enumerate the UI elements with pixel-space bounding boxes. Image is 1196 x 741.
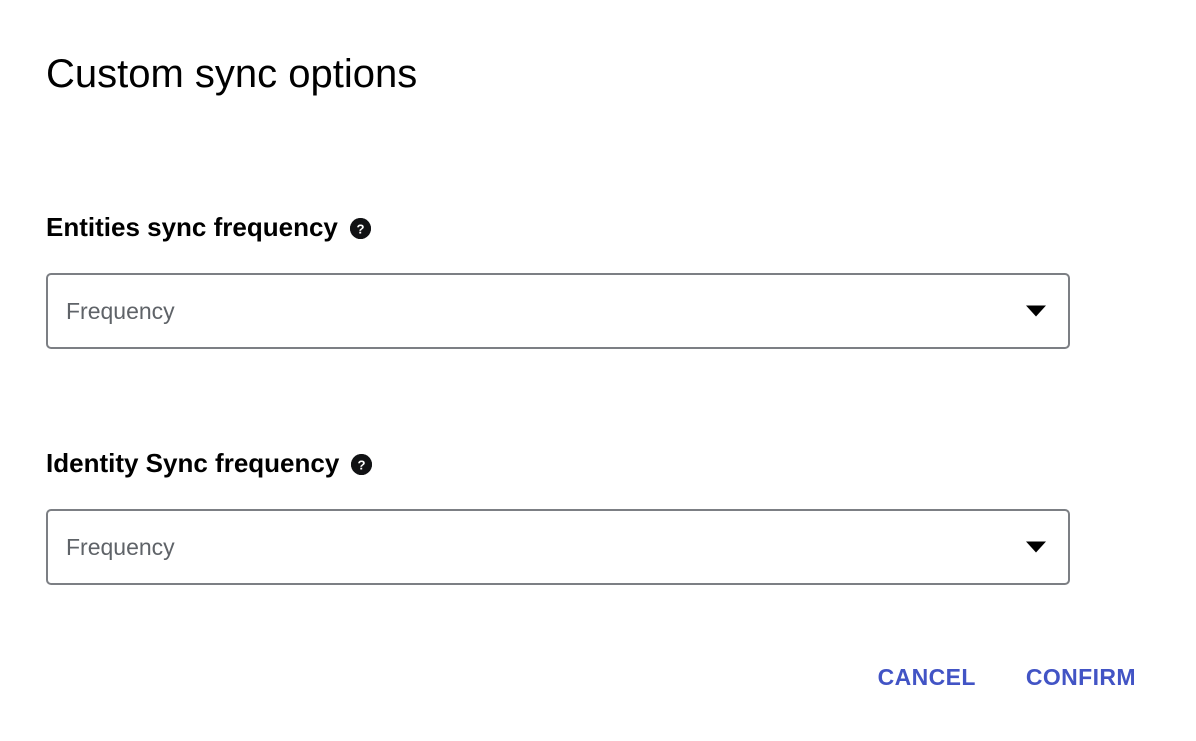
confirm-button[interactable]: CONFIRM (1012, 655, 1150, 699)
field-label-row: Identity Sync frequency ? (46, 446, 1070, 480)
field-identity-sync-frequency: Identity Sync frequency ? Frequency (46, 446, 1070, 585)
help-circle-icon[interactable]: ? (351, 454, 372, 475)
page-title: Custom sync options (46, 48, 417, 100)
chevron-down-icon (1026, 542, 1046, 553)
identity-sync-frequency-label: Identity Sync frequency (46, 446, 339, 480)
custom-sync-options-dialog: Custom sync options Entities sync freque… (0, 0, 1196, 741)
help-circle-icon[interactable]: ? (350, 218, 371, 239)
entities-sync-frequency-label: Entities sync frequency (46, 210, 338, 244)
cancel-button[interactable]: CANCEL (864, 655, 990, 699)
field-entities-sync-frequency: Entities sync frequency ? Frequency (46, 210, 1070, 349)
entities-sync-frequency-select[interactable]: Frequency (46, 273, 1070, 349)
chevron-down-icon (1026, 306, 1046, 317)
entities-sync-frequency-value: Frequency (48, 297, 175, 325)
field-label-row: Entities sync frequency ? (46, 210, 1070, 244)
dialog-actions: CANCEL CONFIRM (864, 655, 1150, 699)
identity-sync-frequency-select[interactable]: Frequency (46, 509, 1070, 585)
svg-text:?: ? (358, 457, 366, 472)
svg-text:?: ? (356, 221, 364, 236)
identity-sync-frequency-value: Frequency (48, 533, 175, 561)
